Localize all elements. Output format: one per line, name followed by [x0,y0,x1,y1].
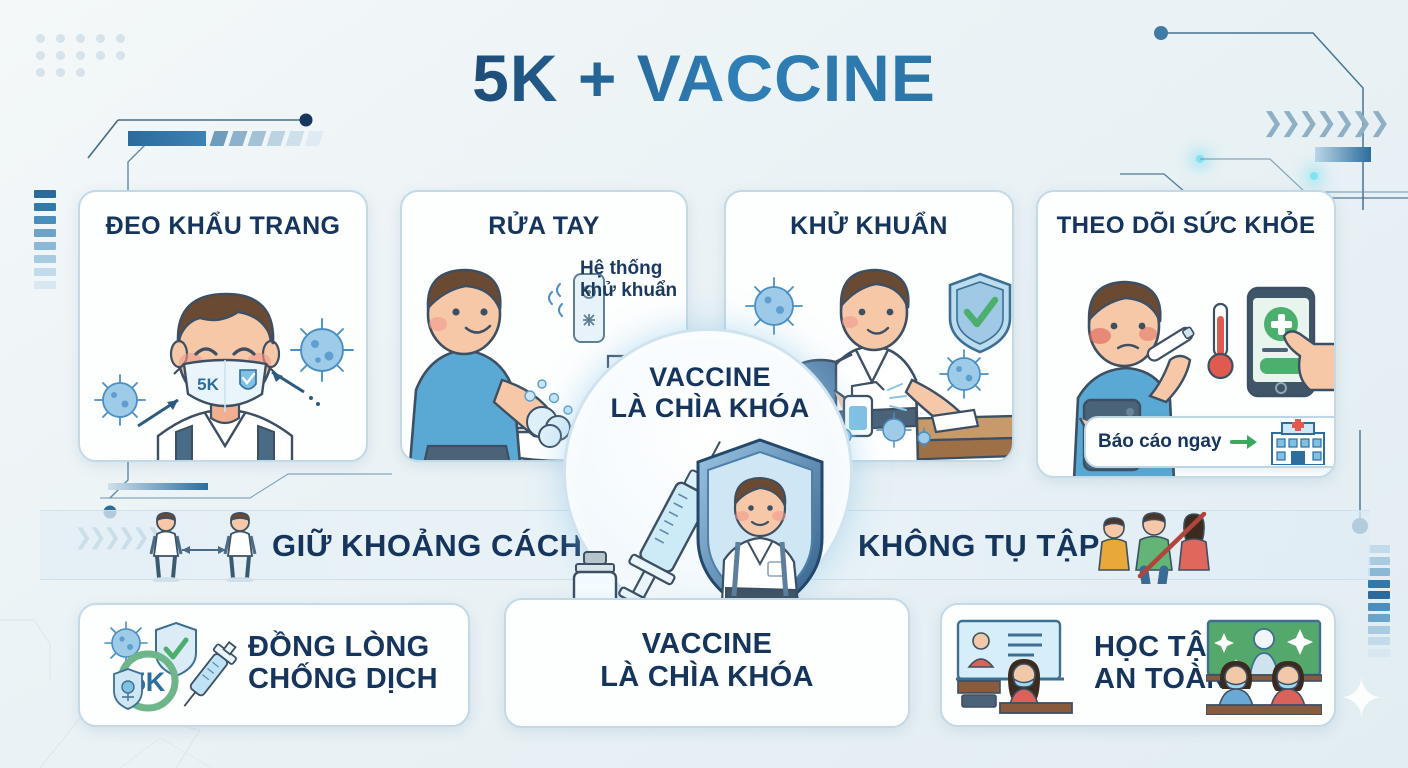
circuit-lines-left-mid [100,470,400,510]
arrow-right-icon [1230,432,1258,452]
hud-bar-segment [128,131,206,146]
card-vaccine-la-chia-khoa[interactable]: VACCINE LÀ CHÌA KHÓA [504,598,910,728]
bottom-card-label: ĐỒNG LÒNG CHỐNG DỊCH [248,631,438,696]
card-title: RỬA TAY [402,212,686,241]
bao-cao-ngay-badge[interactable]: Báo cáo ngay [1084,416,1336,468]
hud-bar-segment [210,131,229,146]
card-dong-long-chong-dich[interactable]: 5K ĐỒNG LÒNG CHỐNG DỊCH [78,603,470,727]
5k-badge-icons: 5K [98,617,246,717]
bottom-card-label: VACCINE LÀ CHÌA KHÓA [506,628,908,694]
online-class-screen-icon [956,619,1074,715]
glow-node [1310,172,1318,180]
classroom-students-icon [1206,619,1322,715]
sparkle-icon: ✦ [1339,672,1384,726]
infographic-canvas: ❯❯❯❯❯❯❯ ❯❯❯❯❯❯ ✦ 5K + VACCINE ĐEO KHẨU T… [0,0,1408,768]
card-title: ĐEO KHẨU TRANG [80,212,366,241]
card-title: THEO DÕI SỨC KHỎE [1038,212,1334,240]
page-title: 5K + VACCINE [0,40,1408,116]
center-label: VACCINE LÀ CHÌA KHÓA [575,362,845,425]
hud-vertical-bars-left [34,190,60,300]
hud-bar-segment [1315,147,1371,162]
glow-node [1196,155,1204,163]
card-hoc-tap-an-toan[interactable]: HỌC TẬP AN TOÀN [940,603,1336,727]
khong-tu-tap-label: KHÔNG TỤ TẬP [858,528,1100,564]
polygon-outlines-decoration [0,610,60,680]
svg-text:5K: 5K [197,375,219,394]
giu-khoang-cach-label: GIỮ KHOẢNG CÁCH [272,528,583,564]
boy-wearing-mask-icon: 5K [80,250,366,460]
hud-bar-segment [108,483,208,490]
hud-bar-segment [286,131,305,146]
sanitizer-callout: Hệ thống khử khuẩn [580,258,677,303]
hud-vertical-bars-right [1368,545,1394,660]
hud-bar-segment [229,131,248,146]
badge-label: Báo cáo ngay [1098,431,1222,453]
card-title: KHỬ KHUẨN [726,212,1012,241]
card-deo-khau-trang[interactable]: ĐEO KHẨU TRANG [78,190,368,462]
card-theo-doi-suc-khoe[interactable]: THEO DÕI SỨC KHỎE [1036,190,1336,478]
hud-bar-segment [248,131,267,146]
hud-bar-segment [267,131,286,146]
hospital-building-icon [1266,419,1330,465]
hud-bar-segment [305,131,324,146]
